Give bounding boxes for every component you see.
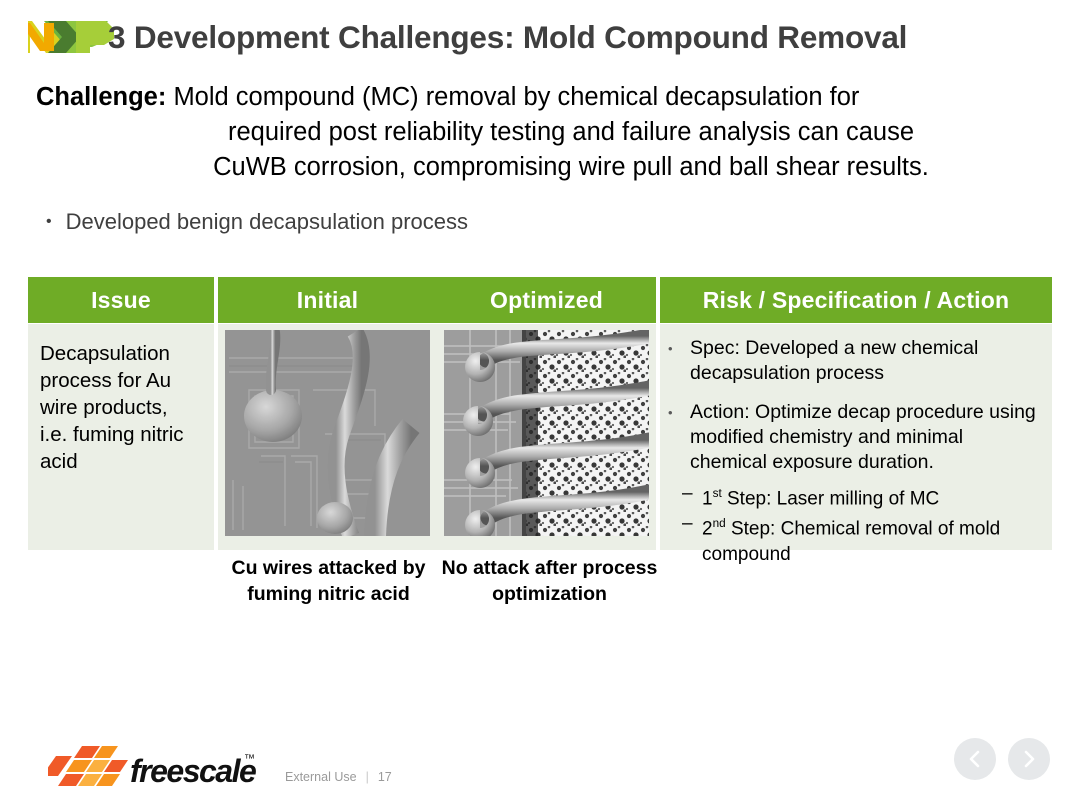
table-body-row: Decapsulation process for Au wire produc… (28, 324, 1052, 550)
initial-micrograph-wrapper (225, 330, 430, 536)
svg-text:freescale: freescale (130, 753, 256, 789)
challenge-statement: Challenge: Mold compound (MC) removal by… (28, 80, 1052, 185)
dash-marker-icon: – (682, 481, 702, 511)
caption-optimized: No attack after process optimization (439, 555, 660, 607)
challenge-label: Challenge: (36, 83, 166, 111)
chevron-right-icon (1021, 749, 1037, 769)
sub-bullet-item: • Developed benign decapsulation process (46, 208, 468, 236)
initial-micrograph-image (225, 330, 430, 536)
column-header-initial: Initial (218, 287, 437, 314)
column-header-issue: Issue (28, 277, 214, 323)
optimized-micrograph-image (444, 330, 649, 536)
nxp-logo (28, 17, 116, 57)
bullet-marker-icon: • (668, 336, 690, 386)
page-number: 17 (378, 770, 392, 784)
column-header-images-group: Initial Optimized (218, 277, 656, 323)
usage-label: External Use (285, 770, 357, 784)
risk-cell: • Spec: Developed a new chemical decapsu… (660, 324, 1052, 550)
comparison-table: Issue Initial Optimized Risk / Specifica… (28, 277, 1052, 549)
chevron-left-icon (967, 749, 983, 769)
footer-separator: | (366, 770, 369, 784)
issue-cell: Decapsulation process for Au wire produc… (28, 324, 214, 550)
slide-navigation (954, 738, 1050, 780)
risk-bullet-spec: • Spec: Developed a new chemical decapsu… (668, 336, 1042, 386)
next-slide-button[interactable] (1008, 738, 1050, 780)
micrograph-cell (218, 324, 656, 550)
risk-subitem-step2-text: 2nd Step: Chemical removal of mold compo… (702, 511, 1042, 566)
column-header-risk: Risk / Specification / Action (660, 277, 1052, 323)
page-title: 3 Development Challenges: Mold Compound … (108, 12, 907, 62)
ordinal-suffix: nd (713, 517, 726, 530)
ordinal-suffix: st (713, 487, 722, 500)
micrograph-captions: Cu wires attacked by fuming nitric acid … (218, 555, 660, 607)
risk-bullet-action-text: Action: Optimize decap procedure using m… (690, 400, 1042, 475)
caption-initial: Cu wires attacked by fuming nitric acid (218, 555, 439, 607)
challenge-line-2: required post reliability testing and fa… (28, 115, 1052, 150)
optimized-micrograph-wrapper (444, 330, 649, 536)
risk-bullet-spec-text: Spec: Developed a new chemical decapsula… (690, 336, 1042, 386)
risk-subitem-step1: – 1st Step: Laser milling of MC (682, 481, 1042, 511)
risk-subitem-step1-text: 1st Step: Laser milling of MC (702, 481, 1042, 511)
risk-bullet-action: • Action: Optimize decap procedure using… (668, 400, 1042, 475)
risk-subitem-step2: – 2nd Step: Chemical removal of mold com… (682, 511, 1042, 566)
svg-text:™: ™ (244, 753, 255, 765)
bullet-marker-icon: • (668, 400, 690, 475)
challenge-line-3: CuWB corrosion, compromising wire pull a… (28, 150, 1052, 185)
slide-title-bar: 3 Development Challenges: Mold Compound … (0, 12, 1080, 62)
footer-meta: External Use | 17 (285, 770, 392, 784)
freescale-logo: freescale ™ (48, 742, 258, 794)
previous-slide-button[interactable] (954, 738, 996, 780)
column-header-optimized: Optimized (437, 287, 656, 314)
bullet-marker-icon: • (46, 208, 52, 236)
sub-bullet-text: Developed benign decapsulation process (66, 208, 468, 236)
challenge-line-1: Mold compound (MC) removal by chemical d… (166, 83, 859, 111)
table-header-row: Issue Initial Optimized Risk / Specifica… (28, 277, 1052, 323)
dash-marker-icon: – (682, 511, 702, 566)
